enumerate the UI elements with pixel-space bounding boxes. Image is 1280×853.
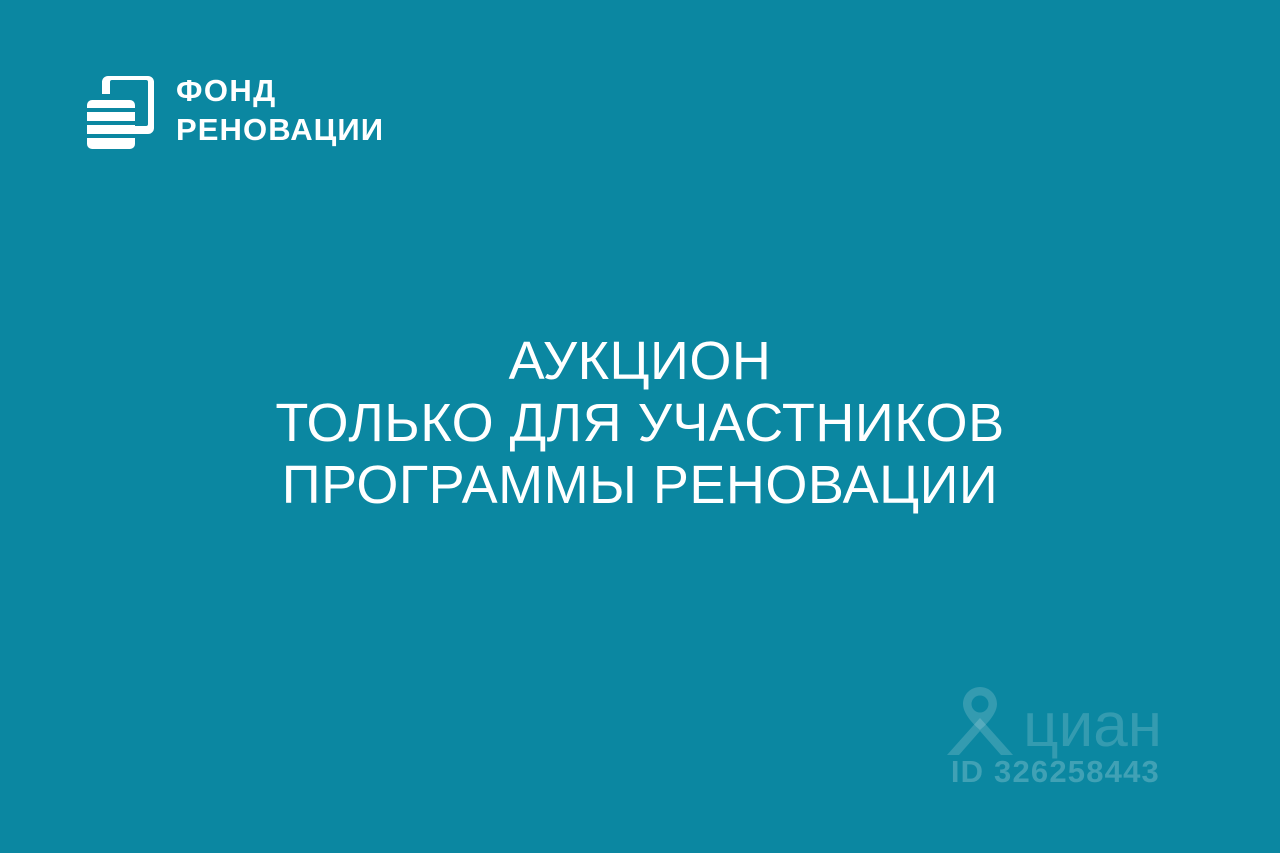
- stacked-documents-icon: [84, 70, 156, 150]
- headline-line-2: ТОЛЬКО ДЛЯ УЧАСТНИКОВ: [40, 392, 1240, 454]
- headline-block: АУКЦИОН ТОЛЬКО ДЛЯ УЧАСТНИКОВ ПРОГРАММЫ …: [0, 330, 1280, 516]
- cian-brand-name: циан: [1023, 697, 1162, 755]
- brand-name-line-1: ФОНД: [176, 75, 384, 106]
- listing-id-label: ID 326258443: [945, 754, 1162, 790]
- fond-renovatsii-logo: ФОНД РЕНОВАЦИИ: [84, 70, 384, 150]
- slide-canvas: ФОНД РЕНОВАЦИИ АУКЦИОН ТОЛЬКО ДЛЯ УЧАСТН…: [0, 0, 1280, 853]
- headline-line-3: ПРОГРАММЫ РЕНОВАЦИИ: [40, 454, 1240, 516]
- brand-name-line-2: РЕНОВАЦИИ: [176, 114, 384, 145]
- headline-line-1: АУКЦИОН: [40, 330, 1240, 392]
- brand-wordmark: ФОНД РЕНОВАЦИИ: [176, 75, 384, 145]
- cian-watermark: циан ID 326258443: [945, 685, 1162, 790]
